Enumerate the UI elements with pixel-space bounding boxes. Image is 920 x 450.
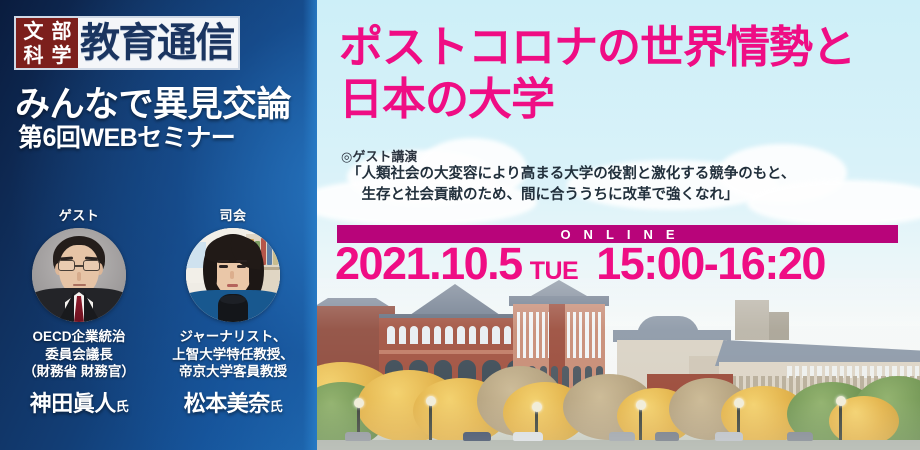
mext-char-1: 文 <box>19 20 47 44</box>
mext-logo-box: 文 部 科 学 <box>16 18 78 68</box>
seminar-poster: 文 部 科 学 教育通信 みんなで異見交論 第6回WEBセミナー ゲスト <box>0 0 920 450</box>
avatar-photo-female <box>186 228 280 322</box>
mext-char-2: 部 <box>47 20 75 44</box>
speaker-name-text: 神田眞人 <box>30 391 116 416</box>
speaker-name-text: 松本美奈 <box>184 391 270 416</box>
speaker-honorific: 氏 <box>116 399 129 414</box>
publication-logo: 文 部 科 学 教育通信 <box>14 16 240 70</box>
event-datetime: 2021.10.5 TUE 15:00-16:20 <box>335 240 825 288</box>
publication-name: 教育通信 <box>78 18 238 68</box>
event-date: 2021.10.5 <box>335 240 522 288</box>
speaker-affiliation: ジャーナリスト、 上智大学特任教授、 帝京大学客員教授 <box>158 328 308 381</box>
speaker-affiliation: OECD企業統治 委員会議長 （財務省 財務官） <box>4 328 154 381</box>
event-day-of-week: TUE <box>530 257 579 286</box>
speaker-name: 神田眞人氏 <box>4 386 154 418</box>
right-content-area: ポストコロナの世界情勢と 日本の大学 ◎ゲスト講演 「人類社会の大変容により高ま… <box>317 0 920 450</box>
mext-char-3: 科 <box>19 44 47 68</box>
speaker-card-guest: ゲスト OECD企業統治 委員会議長 （財務省 財務官） <box>4 205 154 418</box>
speaker-role-label: ゲスト <box>4 205 154 224</box>
speaker-honorific: 氏 <box>270 399 283 414</box>
speakers-section: ゲスト OECD企業統治 委員会議長 （財務省 財務官） <box>0 205 317 450</box>
page-title: ポストコロナの世界情勢と 日本の大学 <box>339 22 855 126</box>
left-info-panel: 文 部 科 学 教育通信 みんなで異見交論 第6回WEBセミナー ゲスト <box>0 0 317 450</box>
campus-building-photo <box>317 278 920 450</box>
speaker-name: 松本美奈氏 <box>158 386 308 418</box>
lecture-quote: 「人類社会の大変容により高まる大学の役割と激化する競争のもと、 生存と社会貢献の… <box>347 164 795 206</box>
mext-char-4: 学 <box>47 44 75 68</box>
series-subtitle: 第6回WEBセミナー <box>18 118 235 154</box>
speaker-card-moderator: 司会 <box>158 205 308 418</box>
speaker-role-label: 司会 <box>158 205 308 224</box>
event-time: 15:00-16:20 <box>596 240 825 288</box>
avatar-photo-male <box>32 228 126 322</box>
lecture-label: ◎ゲスト講演 <box>341 146 417 165</box>
